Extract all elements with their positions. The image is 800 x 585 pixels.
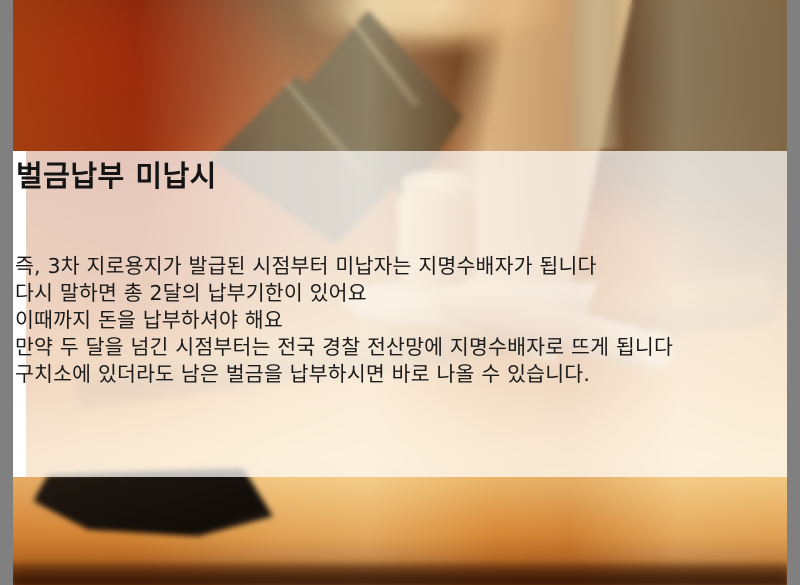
right-gutter bbox=[787, 0, 800, 585]
caption-text-container: 벌금납부 미납시 즉, 3차 지로용지가 발급된 시점부터 미납자는 지명수배자… bbox=[13, 151, 787, 477]
body-line-1: 즉, 3차 지로용지가 발급된 시점부터 미납자는 지명수배자가 됩니다 bbox=[15, 253, 785, 280]
photo-bottom-band bbox=[13, 563, 787, 585]
body-line-5: 구치소에 있더라도 남은 벌금을 납부하시면 바로 나올 수 있습니다. bbox=[15, 361, 785, 388]
left-gutter bbox=[0, 0, 13, 585]
slide-canvas: 벌금납부 미납시 즉, 3차 지로용지가 발급된 시점부터 미납자는 지명수배자… bbox=[0, 0, 800, 585]
body-line-3: 이때까지 돈을 납부하셔야 해요 bbox=[15, 307, 785, 334]
body-line-4: 만약 두 달을 넘긴 시점부터는 전국 경찰 전산망에 지명수배자로 뜨게 됩니… bbox=[15, 334, 785, 361]
body-line-2: 다시 말하면 총 2달의 납부기한이 있어요 bbox=[15, 280, 785, 307]
body-text-block: 즉, 3차 지로용지가 발급된 시점부터 미납자는 지명수배자가 됩니다 다시 … bbox=[15, 253, 785, 388]
slide-title: 벌금납부 미납시 bbox=[16, 157, 217, 195]
